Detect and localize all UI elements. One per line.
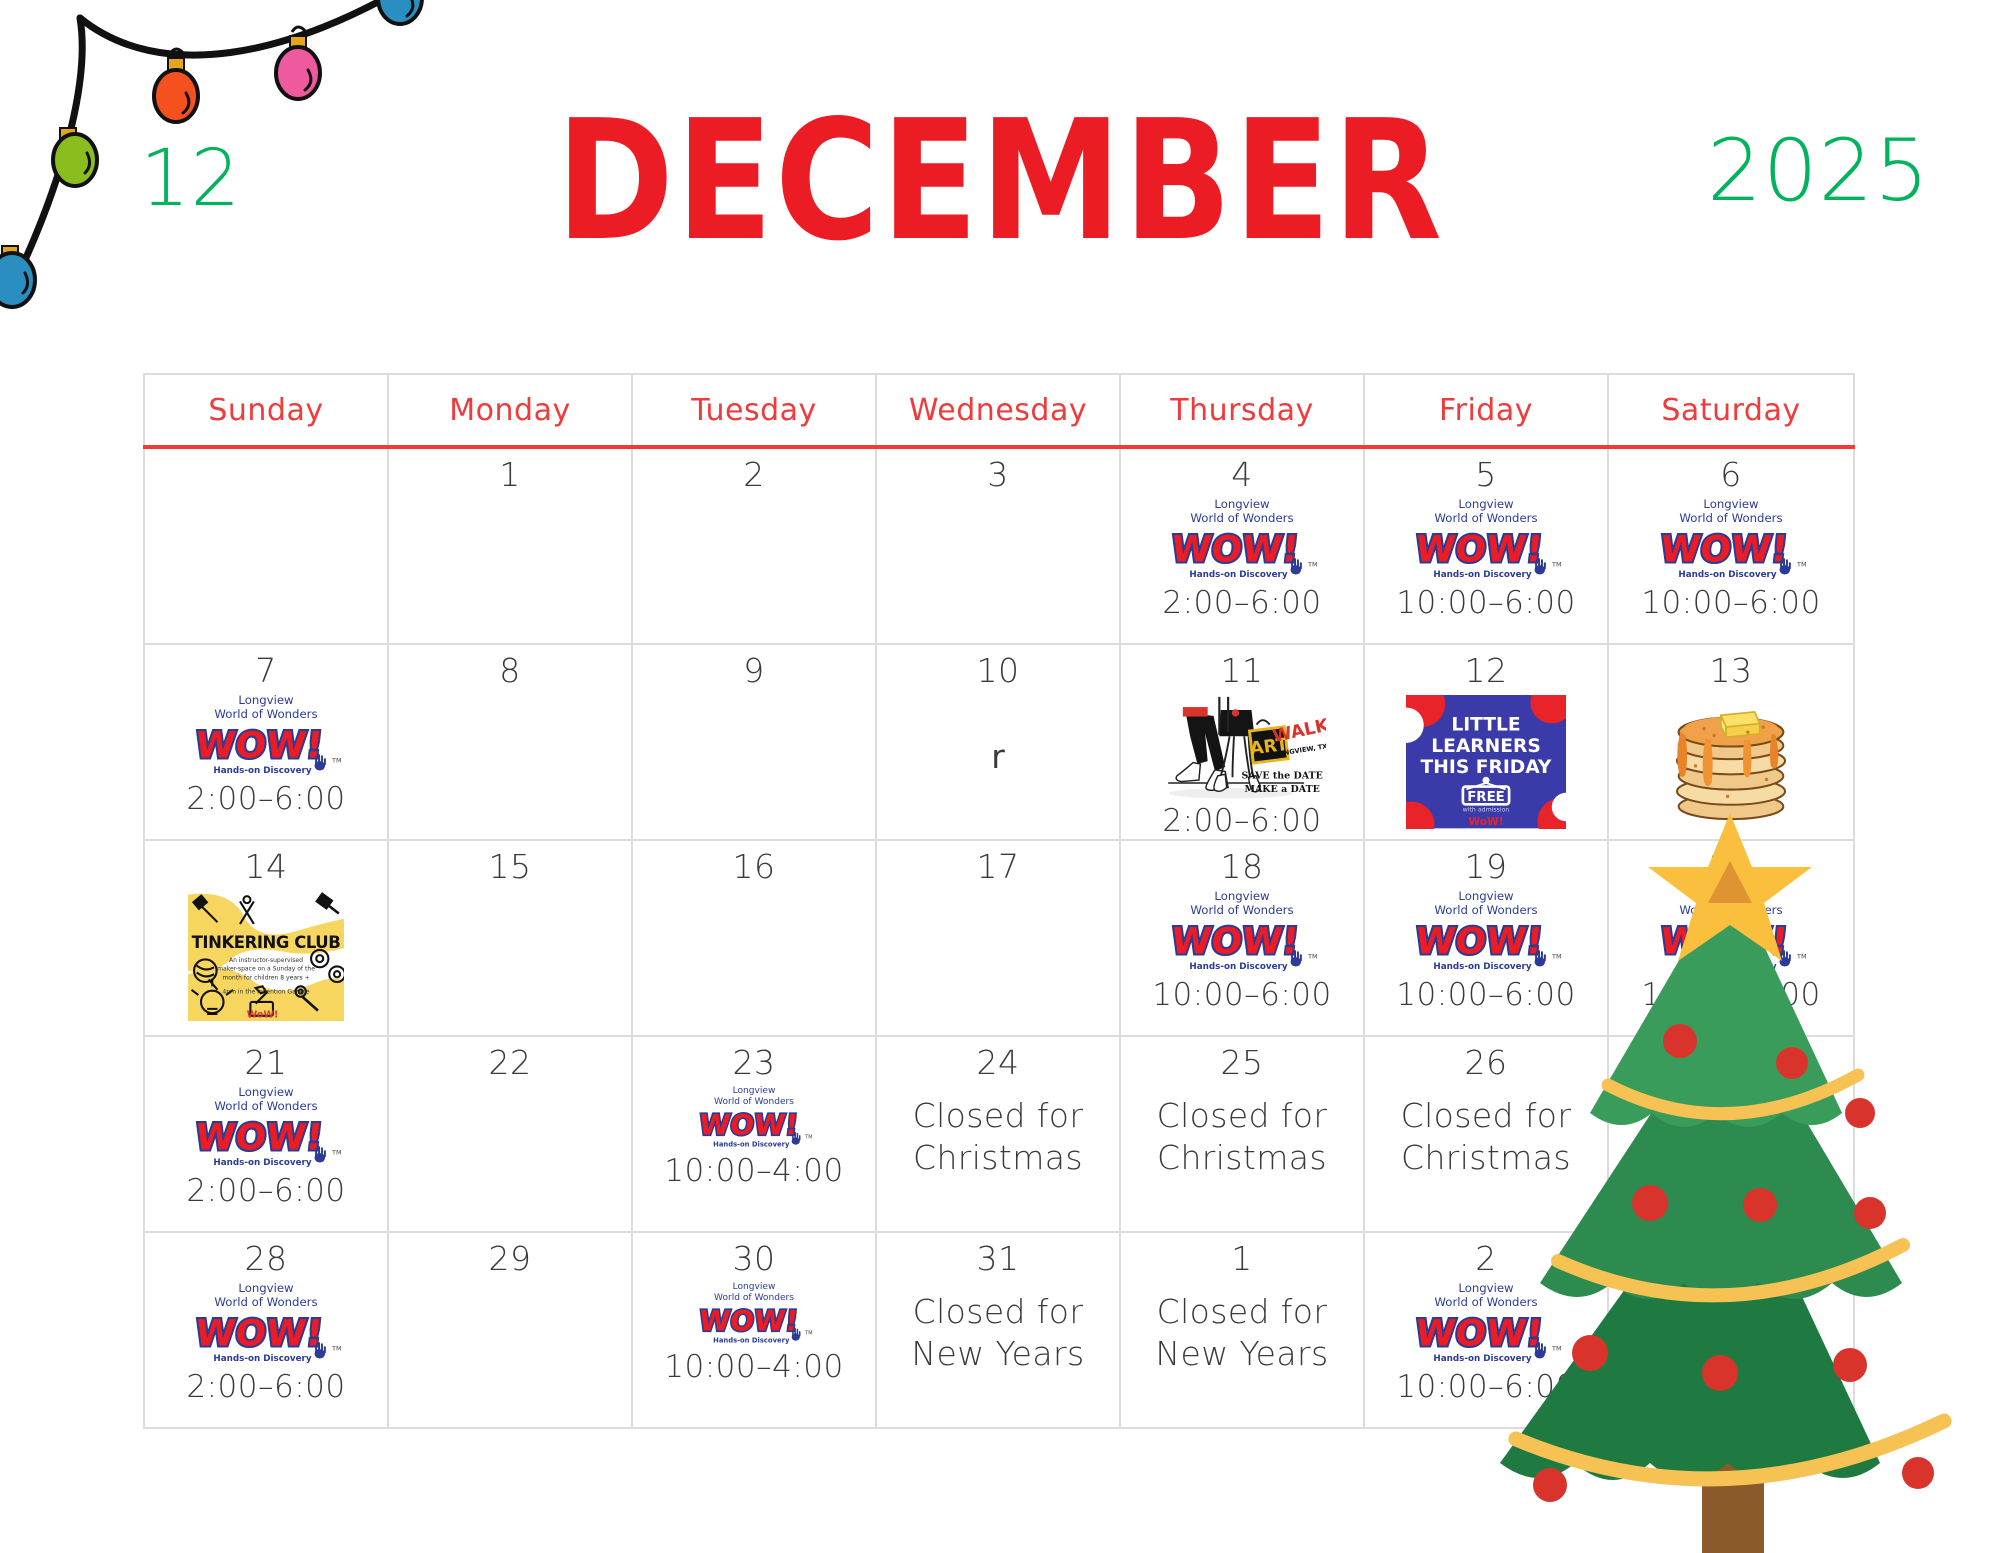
day-number: 2: [1475, 1241, 1497, 1277]
day-number: 12: [1465, 653, 1508, 689]
svg-text:WOW!: WOW!: [1658, 920, 1790, 963]
wow-logo-icon: Longview World of Wonders WOW! Hands-on …: [1410, 1279, 1562, 1367]
day-number: 30: [733, 1241, 776, 1277]
day-number: 22: [489, 1045, 532, 1081]
svg-text:SAVE the DATE: SAVE the DATE: [1241, 771, 1322, 782]
svg-text:World of Wonders: World of Wonders: [1434, 1295, 1537, 1309]
day-cell-16[interactable]: 16: [633, 841, 877, 1035]
day-cell-21[interactable]: 21 Longview World of Wonders WOW! Hands-…: [145, 1037, 389, 1231]
svg-text:Longview: Longview: [733, 1086, 776, 1096]
day-cell-10[interactable]: 10r: [877, 645, 1121, 839]
svg-text:WOW!: WOW!: [193, 1116, 325, 1159]
svg-text:LEARNERS: LEARNERS: [1431, 736, 1541, 757]
day-content: [877, 885, 1119, 1035]
day-content: [389, 1277, 631, 1427]
day-content: Longview World of Wonders WOW! Hands-on …: [145, 1081, 387, 1231]
svg-text:Hands-on Discovery: Hands-on Discovery: [1189, 570, 1287, 580]
svg-text:An instructor-supervised: An instructor-supervised: [229, 957, 303, 964]
svg-text:WOW!: WOW!: [1413, 528, 1545, 571]
day-of-week-thursday: Thursday: [1121, 375, 1365, 445]
calendar-week-row: 28 Longview World of Wonders WOW! Hands-…: [145, 1233, 1853, 1427]
event-hours: 10:00–6:00: [1152, 977, 1331, 1013]
day-cell-13[interactable]: 13: [1609, 645, 1853, 839]
svg-text:TM: TM: [1796, 561, 1806, 569]
svg-text:TM: TM: [804, 1331, 812, 1337]
day-cell-empty: [145, 449, 389, 643]
wow-logo-icon: Longview World of Wonders WOW! Hands-on …: [1410, 887, 1562, 975]
day-content: ART WALK LONGVIEW, TX SAVE the DATE MAKE…: [1121, 689, 1363, 839]
day-cell-2[interactable]: 2: [633, 449, 877, 643]
svg-text:TM: TM: [1796, 1345, 1806, 1353]
day-of-week-tuesday: Tuesday: [633, 375, 877, 445]
day-cell-5[interactable]: 5 Longview World of Wonders WOW! Hands-o…: [1365, 449, 1609, 643]
day-number: 9: [743, 653, 765, 689]
day-content: [633, 885, 875, 1035]
day-cell-8[interactable]: 8: [389, 645, 633, 839]
day-content: Longview World of Wonders WOW! Hands-on …: [1121, 885, 1363, 1035]
svg-text:LITTLE: LITTLE: [1451, 715, 1520, 736]
svg-text:Hands-on Discovery: Hands-on Discovery: [1678, 962, 1776, 972]
wow-logo-icon: Longview World of Wonders WOW! Hands-on …: [190, 1083, 342, 1171]
day-content: Longview World of Wonders WOW! Hands-on …: [1365, 1277, 1607, 1427]
svg-text:World of Wonders: World of Wonders: [214, 1295, 317, 1309]
day-cell-9[interactable]: 9: [633, 645, 877, 839]
wow-logo-icon: Longview World of Wonders WOW! Hands-on …: [1655, 887, 1807, 975]
day-number: 11: [1221, 653, 1264, 689]
day-cell-19[interactable]: 19 Longview World of Wonders WOW! Hands-…: [1365, 841, 1609, 1035]
day-of-week-header: SundayMondayTuesdayWednesdayThursdayFrid…: [143, 373, 1855, 445]
day-of-week-wednesday: Wednesday: [877, 375, 1121, 445]
day-content: [633, 493, 875, 643]
day-cell-31[interactable]: 31Closed forNew Years: [877, 1233, 1121, 1427]
svg-text:TM: TM: [1796, 953, 1806, 961]
day-content: Longview World of Wonders WOW! Hands-on …: [1609, 1277, 1853, 1427]
svg-text:Longview: Longview: [1703, 497, 1759, 511]
day-cell-30[interactable]: 30 Longview World of Wonders WOW! Hands-…: [633, 1233, 877, 1427]
svg-text:World of Wonders: World of Wonders: [1679, 1295, 1782, 1309]
svg-text:Longview: Longview: [238, 1085, 294, 1099]
svg-text:World of Wonders: World of Wonders: [214, 1099, 317, 1113]
day-content: [1609, 1081, 1853, 1231]
day-number: 28: [245, 1241, 288, 1277]
day-number: 3: [987, 457, 1009, 493]
svg-text:WOW!: WOW!: [1169, 528, 1301, 571]
day-content: Closed forChristmas: [1365, 1081, 1607, 1231]
day-content: TINKERING CLUB An instructor-supervised …: [145, 885, 387, 1035]
wow-logo-icon: Longview World of Wonders WOW! Hands-on …: [695, 1083, 813, 1151]
calendar-week-row: 14 TINKERING CLUB An instructor-supe: [145, 841, 1853, 1037]
day-content: Longview World of Wonders WOW! Hands-on …: [145, 689, 387, 839]
day-number: 16: [733, 849, 776, 885]
svg-text:Hands-on Discovery: Hands-on Discovery: [1433, 1354, 1531, 1364]
svg-text:World of Wonders: World of Wonders: [214, 707, 317, 721]
svg-text:TM: TM: [331, 757, 341, 765]
day-of-week-friday: Friday: [1365, 375, 1609, 445]
day-content: Longview World of Wonders WOW! Hands-on …: [633, 1081, 875, 1231]
day-number: 2: [743, 457, 765, 493]
day-cell-26[interactable]: 26Closed forChristmas: [1365, 1037, 1609, 1231]
day-content: Closed forChristmas: [1121, 1081, 1363, 1231]
svg-text:TM: TM: [1307, 561, 1317, 569]
svg-text:WoW!: WoW!: [247, 1010, 279, 1021]
day-cell-1[interactable]: 1Closed forNew Years: [1121, 1233, 1365, 1427]
svg-text:Hands-on Discovery: Hands-on Discovery: [1433, 962, 1531, 972]
event-hours: 10:00–6:00: [1396, 977, 1575, 1013]
day-number: 5: [1475, 457, 1497, 493]
day-content: r: [877, 689, 1119, 839]
calendar-weeks: 1234 Longview World of Wonders WOW! Hand…: [143, 449, 1855, 1429]
svg-text:World of Wonders: World of Wonders: [1190, 511, 1293, 525]
day-cell-25[interactable]: 25Closed forChristmas: [1121, 1037, 1365, 1231]
day-cell-27[interactable]: 27: [1609, 1037, 1853, 1231]
day-number: 13: [1710, 653, 1753, 689]
day-content: [633, 689, 875, 839]
svg-text:World of Wonders: World of Wonders: [1434, 511, 1537, 525]
svg-text:Hands-on Discovery: Hands-on Discovery: [1433, 570, 1531, 580]
day-number: 4: [1231, 457, 1253, 493]
svg-text:Longview: Longview: [1703, 889, 1759, 903]
day-number: 31: [977, 1241, 1020, 1277]
svg-text:WOW!: WOW!: [698, 1305, 800, 1338]
day-content: [1609, 689, 1853, 839]
day-content: Closed forNew Years: [1121, 1277, 1363, 1427]
day-content: Longview World of Wonders WOW! Hands-on …: [633, 1277, 875, 1427]
svg-text:WOW!: WOW!: [193, 724, 325, 767]
day-cell-28[interactable]: 28 Longview World of Wonders WOW! Hands-…: [145, 1233, 389, 1427]
little-learners-flyer-icon: LITTLE LEARNERS THIS FRIDAY FREE with ad…: [1406, 695, 1566, 828]
svg-text:WOW!: WOW!: [1169, 920, 1301, 963]
day-number: 7: [255, 653, 277, 689]
svg-text:Longview: Longview: [733, 1282, 776, 1292]
day-cell-15[interactable]: 15: [389, 841, 633, 1035]
svg-text:Hands-on Discovery: Hands-on Discovery: [213, 1158, 311, 1168]
calendar-week-row: 1234 Longview World of Wonders WOW! Hand…: [145, 449, 1853, 645]
wow-logo-icon: Longview World of Wonders WOW! Hands-on …: [695, 1279, 813, 1347]
cardboard-box-icon: [1656, 1099, 1806, 1224]
svg-text:FREE: FREE: [1467, 790, 1505, 805]
day-cell-12[interactable]: 12 LITTLE LEARNERS THIS FRIDAY FREE with…: [1365, 645, 1609, 839]
svg-text:WoW!: WoW!: [1468, 815, 1503, 828]
svg-text:TM: TM: [1307, 953, 1317, 961]
day-number: 19: [1465, 849, 1508, 885]
day-cell-24[interactable]: 24Closed forChristmas: [877, 1037, 1121, 1231]
day-number: 21: [245, 1045, 288, 1081]
day-cell-7[interactable]: 7 Longview World of Wonders WOW! Hands-o…: [145, 645, 389, 839]
svg-text:Longview: Longview: [238, 1281, 294, 1295]
day-cell-14[interactable]: 14 TINKERING CLUB An instructor-supe: [145, 841, 389, 1035]
day-cell-6[interactable]: 6 Longview World of Wonders WOW! Hands-o…: [1609, 449, 1853, 643]
event-hours: 2:00–6:00: [1162, 803, 1321, 839]
day-number: 1: [499, 457, 521, 493]
day-content: Longview World of Wonders WOW! Hands-on …: [145, 1277, 387, 1427]
calendar-week-row: 7 Longview World of Wonders WOW! Hands-o…: [145, 645, 1853, 841]
svg-text:maker-space on a Sunday of the: maker-space on a Sunday of the: [217, 966, 315, 973]
year-label: 2025: [1707, 128, 1930, 214]
day-content: [877, 493, 1119, 643]
day-number: 17: [977, 849, 1020, 885]
wow-logo-icon: Longview World of Wonders WOW! Hands-on …: [1410, 495, 1562, 583]
svg-text:Hands-on Discovery: Hands-on Discovery: [713, 1337, 790, 1345]
day-cell-18[interactable]: 18 Longview World of Wonders WOW! Hands-…: [1121, 841, 1365, 1035]
svg-text:Hands-on Discovery: Hands-on Discovery: [1189, 962, 1287, 972]
svg-text:Longview: Longview: [238, 693, 294, 707]
event-hours: 10:00–6:00: [1396, 1369, 1575, 1405]
day-content: Longview World of Wonders WOW! Hands-on …: [1365, 493, 1607, 643]
svg-text:TM: TM: [804, 1135, 812, 1141]
closed-notice: Closed forChristmas: [1401, 1095, 1572, 1178]
svg-text:Longview: Longview: [1214, 497, 1270, 511]
day-content: [389, 689, 631, 839]
svg-text:Longview: Longview: [1458, 889, 1514, 903]
wow-logo-icon: Longview World of Wonders WOW! Hands-on …: [190, 691, 342, 779]
svg-text:Longview: Longview: [1214, 889, 1270, 903]
day-content: [389, 1081, 631, 1231]
svg-text:TM: TM: [1551, 561, 1561, 569]
day-cell-1[interactable]: 1: [389, 449, 633, 643]
day-number: 10: [977, 653, 1020, 689]
day-cell-22[interactable]: 22: [389, 1037, 633, 1231]
svg-text:World of Wonders: World of Wonders: [714, 1097, 794, 1107]
svg-text:Hands-on Discovery: Hands-on Discovery: [713, 1141, 790, 1149]
svg-text:World of Wonders: World of Wonders: [714, 1293, 794, 1303]
day-content: Longview World of Wonders WOW! Hands-on …: [1365, 885, 1607, 1035]
wow-logo-icon: Longview World of Wonders WOW! Hands-on …: [1655, 1279, 1807, 1367]
svg-text:Hands-on Discovery: Hands-on Discovery: [213, 766, 311, 776]
calendar-grid: SundayMondayTuesdayWednesdayThursdayFrid…: [143, 373, 1855, 1429]
svg-text:WOW!: WOW!: [1658, 528, 1790, 571]
day-number: 23: [733, 1045, 776, 1081]
day-content: [389, 493, 631, 643]
day-content: [389, 885, 631, 1035]
svg-text:TM: TM: [1551, 953, 1561, 961]
svg-text:WOW!: WOW!: [193, 1312, 325, 1355]
day-content: Closed forNew Years: [877, 1277, 1119, 1427]
svg-text:WOW!: WOW!: [1413, 920, 1545, 963]
wow-logo-icon: Longview World of Wonders WOW! Hands-on …: [1166, 887, 1318, 975]
svg-text:World of Wonders: World of Wonders: [1679, 511, 1782, 525]
day-content: LITTLE LEARNERS THIS FRIDAY FREE with ad…: [1365, 689, 1607, 839]
svg-text:Longview: Longview: [1703, 1281, 1759, 1295]
day-number: 3: [1720, 1241, 1742, 1277]
event-hours: 2:00–6:00: [186, 1173, 345, 1209]
day-cell-2[interactable]: 2 Longview World of Wonders WOW! Hands-o…: [1365, 1233, 1609, 1427]
day-cell-3[interactable]: 3 Longview World of Wonders WOW! Hands-o…: [1609, 1233, 1853, 1427]
day-content: Longview World of Wonders WOW! Hands-on …: [1121, 493, 1363, 643]
svg-text:TM: TM: [1551, 1345, 1561, 1353]
event-hours: 10:00–6:00: [1641, 1369, 1820, 1405]
day-number: 29: [489, 1241, 532, 1277]
event-hours: 10:00–6:00: [1396, 585, 1575, 621]
svg-text:Hands-on Discovery: Hands-on Discovery: [1678, 1354, 1776, 1364]
day-number: 27: [1710, 1045, 1753, 1081]
calendar-week-row: 21 Longview World of Wonders WOW! Hands-…: [145, 1037, 1853, 1233]
closed-notice: Closed forNew Years: [911, 1291, 1084, 1374]
day-content: Longview World of Wonders WOW! Hands-on …: [1609, 493, 1853, 643]
svg-text:TM: TM: [331, 1345, 341, 1353]
day-number: 15: [489, 849, 532, 885]
day-cell-3[interactable]: 3: [877, 449, 1121, 643]
calendar-header: 12 DECEMBER 2025: [0, 0, 2000, 360]
day-cell-17[interactable]: 17: [877, 841, 1121, 1035]
svg-text:TM: TM: [331, 1149, 341, 1157]
day-number: 26: [1465, 1045, 1508, 1081]
event-hours: 2:00–6:00: [186, 781, 345, 817]
day-cell-11[interactable]: 11 ART WALK: [1121, 645, 1365, 839]
day-content: Longview World of Wonders WOW! Hands-on …: [1609, 885, 1853, 1035]
day-number: 1: [1231, 1241, 1253, 1277]
day-number: 24: [977, 1045, 1020, 1081]
day-number: 25: [1221, 1045, 1264, 1081]
day-cell-4[interactable]: 4 Longview World of Wonders WOW! Hands-o…: [1121, 449, 1365, 643]
svg-text:Longview: Longview: [1458, 497, 1514, 511]
day-of-week-monday: Monday: [389, 375, 633, 445]
svg-text:month for children 8 years +: month for children 8 years +: [222, 975, 309, 982]
event-hours: 10:00–6:00: [1641, 585, 1820, 621]
svg-text:TINKERING CLUB: TINKERING CLUB: [192, 933, 341, 952]
svg-text:with admission: with admission: [1463, 807, 1510, 814]
day-number: 18: [1221, 849, 1264, 885]
event-hours: 10:00–4:00: [664, 1153, 843, 1189]
svg-text:Longview: Longview: [1458, 1281, 1514, 1295]
day-content: Closed forChristmas: [877, 1081, 1119, 1231]
svg-text:World of Wonders: World of Wonders: [1679, 903, 1782, 917]
day-number: 6: [1720, 457, 1742, 493]
day-number: 20: [1710, 849, 1753, 885]
day-number: 14: [245, 849, 288, 885]
svg-text:Hands-on Discovery: Hands-on Discovery: [1678, 570, 1776, 580]
day-of-week-saturday: Saturday: [1609, 375, 1853, 445]
closed-notice: Closed forChristmas: [913, 1095, 1084, 1178]
svg-text:MAKE a DATE: MAKE a DATE: [1244, 784, 1319, 795]
day-of-week-sunday: Sunday: [145, 375, 389, 445]
stray-character: r: [991, 737, 1005, 776]
wow-logo-icon: Longview World of Wonders WOW! Hands-on …: [1655, 495, 1807, 583]
day-content: [145, 457, 387, 643]
wow-logo-icon: Longview World of Wonders WOW! Hands-on …: [190, 1279, 342, 1367]
svg-text:WOW!: WOW!: [1658, 1312, 1790, 1355]
svg-text:WOW!: WOW!: [698, 1109, 800, 1142]
closed-notice: Closed forNew Years: [1155, 1291, 1328, 1374]
wow-logo-icon: Longview World of Wonders WOW! Hands-on …: [1166, 495, 1318, 583]
tinkering-club-flyer-icon: TINKERING CLUB An instructor-supervised …: [188, 891, 344, 1021]
day-number: 8: [499, 653, 521, 689]
event-hours: 10:00–4:00: [664, 1349, 843, 1385]
day-cell-23[interactable]: 23 Longview World of Wonders WOW! Hands-…: [633, 1037, 877, 1231]
page-title: DECEMBER: [40, 98, 1960, 264]
svg-text:THIS FRIDAY: THIS FRIDAY: [1421, 758, 1552, 779]
svg-text:Hands-on Discovery: Hands-on Discovery: [213, 1354, 311, 1364]
closed-notice: Closed forChristmas: [1157, 1095, 1328, 1178]
svg-text:World of Wonders: World of Wonders: [1434, 903, 1537, 917]
event-hours: 2:00–6:00: [186, 1369, 345, 1405]
svg-text:WOW!: WOW!: [1413, 1312, 1545, 1355]
art-walk-icon: ART WALK LONGVIEW, TX SAVE the DATE MAKE…: [1158, 691, 1326, 801]
pancake-stack-icon: [1655, 695, 1807, 822]
event-hours: 2:00–6:00: [1162, 585, 1321, 621]
day-cell-20[interactable]: 20 Longview World of Wonders WOW! Hands-…: [1609, 841, 1853, 1035]
event-hours: 10:00–6:00: [1641, 977, 1820, 1013]
day-cell-29[interactable]: 29: [389, 1233, 633, 1427]
svg-text:4pm in the Invention Garage: 4pm in the Invention Garage: [222, 989, 309, 996]
svg-text:World of Wonders: World of Wonders: [1190, 903, 1293, 917]
